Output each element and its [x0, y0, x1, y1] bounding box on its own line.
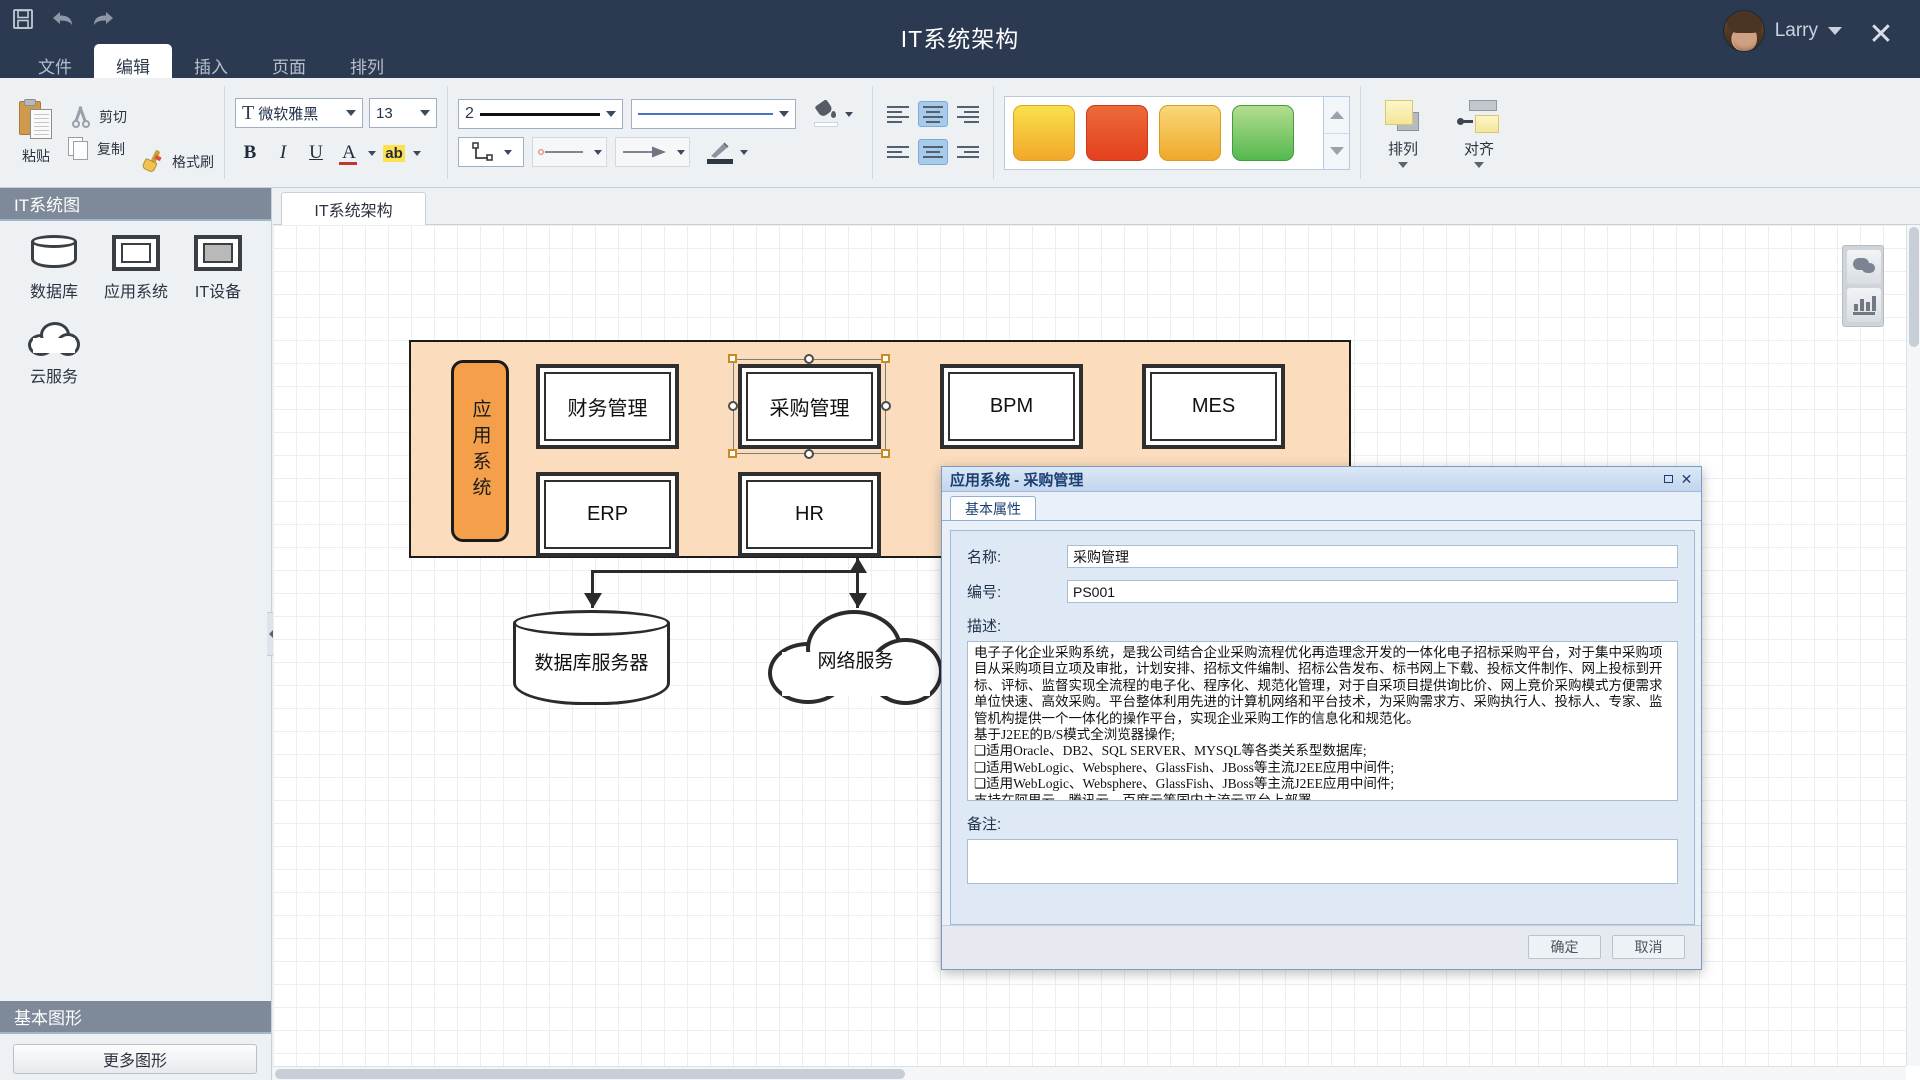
field-row-code: 编号: PS001 [967, 580, 1678, 603]
dialog-body: 名称: 采购管理 编号: PS001 描述: 电子子化企业采购系统，是我公司结合… [950, 530, 1695, 925]
user-menu[interactable]: Larry [1723, 10, 1842, 52]
scissors-icon [68, 106, 92, 128]
chevron-down-icon[interactable] [845, 112, 853, 117]
fill-color-swatch [814, 122, 838, 127]
dialog-tab-strip: 基本属性 [942, 492, 1701, 521]
chevron-down-icon[interactable] [368, 151, 376, 156]
cut-button[interactable]: 剪切 [68, 106, 127, 128]
canvas-horizontal-scrollbar[interactable] [273, 1066, 1906, 1080]
node-label: BPM [990, 395, 1033, 418]
chevron-down-icon[interactable] [346, 110, 356, 116]
format-painter-label: 格式刷 [172, 152, 214, 172]
left-panel: IT系统图 数据库 应用系统 IT设备 云服务 基本图形 更多图形 [0, 188, 272, 1080]
align-left-button[interactable] [883, 101, 913, 127]
stencil-label: 数据库 [30, 278, 78, 302]
ribbon-group-align [873, 78, 993, 188]
stencil-item-application[interactable]: 应用系统 [98, 235, 174, 302]
node-label: 采购管理 [770, 392, 850, 421]
close-icon: ✕ [1681, 472, 1693, 486]
stencil-label: 云服务 [30, 363, 78, 387]
style-swatch-yellow[interactable] [1013, 105, 1075, 161]
name-label: 名称: [967, 546, 1067, 567]
align-top-button[interactable] [883, 139, 913, 165]
ribbon: 粘贴 剪切 复制 格式刷 T 微软雅黑 [0, 78, 1920, 188]
ribbon-group-clipboard: 粘贴 剪切 复制 格式刷 [0, 78, 224, 188]
paint-bucket-icon [815, 101, 837, 121]
align-right-button[interactable] [953, 101, 983, 127]
canvas-vertical-scrollbar[interactable] [1906, 225, 1920, 1066]
node-label: 数据库服务器 [513, 648, 670, 675]
line-weight-value: 2 [465, 105, 474, 123]
line-weight-select[interactable]: 2 [458, 99, 623, 129]
dialog-title-bar[interactable]: 应用系统 - 采购管理 ✕ [942, 467, 1701, 492]
ribbon-group-arrange: 排列 对齐 [1361, 78, 1521, 188]
triangle-up-icon [1330, 111, 1344, 119]
arrange-icon [1381, 98, 1425, 136]
node-label: 财务管理 [568, 392, 648, 421]
database-shape-icon [31, 235, 77, 271]
scrollbar-thumb[interactable] [1909, 227, 1919, 347]
font-family-select[interactable]: T 微软雅黑 [235, 98, 363, 128]
scrollbar-thumb[interactable] [275, 1069, 905, 1079]
pen-icon [708, 141, 732, 159]
stencil-label: IT设备 [195, 278, 241, 302]
gallery-scroll-down-button[interactable] [1324, 134, 1349, 170]
more-shapes-button[interactable]: 更多图形 [13, 1044, 257, 1074]
connector-type-select[interactable] [458, 137, 524, 167]
basic-shapes-header: 基本图形 [0, 1001, 271, 1034]
copy-icon [68, 137, 90, 161]
elbow-connector-icon [471, 141, 497, 163]
resize-handle-sw[interactable] [728, 449, 737, 458]
node-label: MES [1192, 395, 1235, 418]
font-T-icon: T [242, 102, 254, 125]
chevron-down-icon[interactable] [677, 150, 685, 155]
style-swatch-orange[interactable] [1159, 105, 1221, 161]
chart-tool-button[interactable] [1847, 288, 1881, 322]
node-label: HR [795, 503, 824, 526]
diagram-node-mes[interactable]: MES [1142, 364, 1285, 449]
comment-tool-button[interactable] [1847, 250, 1881, 284]
stencil-label: 应用系统 [104, 278, 168, 302]
node-label: 网络服务 [768, 646, 943, 673]
resize-handle-n[interactable] [804, 354, 814, 364]
ribbon-group-line: 2 [448, 78, 872, 188]
stencil-item-device[interactable]: IT设备 [180, 235, 256, 302]
resize-handle-s[interactable] [804, 449, 814, 459]
style-swatch-green[interactable] [1232, 105, 1294, 161]
ok-button[interactable]: 确定 [1528, 935, 1601, 959]
document-tab-it-architecture[interactable]: IT系统架构 [281, 192, 426, 225]
arrowhead-up-container [849, 558, 867, 573]
db-cylinder-top [513, 610, 670, 636]
chevron-down-icon[interactable] [740, 150, 748, 155]
font-color-button[interactable]: A [334, 138, 364, 168]
line-start-style-select[interactable] [532, 137, 607, 167]
paste-button[interactable]: 粘贴 [8, 101, 64, 166]
dialog-tab-basic-properties[interactable]: 基本属性 [950, 496, 1036, 520]
bold-button[interactable]: B [235, 138, 265, 168]
application-shape-icon [112, 235, 160, 271]
gallery-scroll-up-button[interactable] [1324, 97, 1349, 134]
restore-icon [1664, 475, 1673, 483]
ribbon-group-styles [994, 78, 1360, 188]
description-label: 描述: [967, 615, 1678, 636]
resize-handle-e[interactable] [881, 401, 891, 411]
document-tab-strip: IT系统架构 [273, 188, 1920, 225]
chevron-down-icon[interactable] [779, 111, 789, 117]
chevron-down-icon[interactable] [420, 110, 430, 116]
diagram-node-bpm[interactable]: BPM [940, 364, 1083, 449]
canvas-side-tools [1842, 245, 1884, 327]
align-center-button[interactable] [918, 101, 948, 127]
cloud-shape-icon [28, 322, 80, 356]
note-label: 备注: [967, 813, 1678, 834]
align-middle-button[interactable] [918, 139, 948, 165]
format-painter-button[interactable]: 格式刷 [139, 150, 214, 174]
brush-icon [139, 150, 165, 174]
close-icon[interactable]: ✕ [1864, 18, 1898, 52]
pen-style-button[interactable] [698, 137, 756, 167]
code-value: PS001 [1073, 584, 1115, 600]
arrowhead-db [584, 593, 602, 608]
dialog-title: 应用系统 - 采购管理 [950, 469, 1083, 490]
chevron-down-icon[interactable] [1474, 162, 1484, 168]
paste-label: 粘贴 [22, 146, 50, 166]
field-row-name: 名称: 采购管理 [967, 545, 1678, 568]
chevron-down-icon[interactable] [504, 150, 512, 155]
chevron-down-icon[interactable] [413, 151, 421, 156]
line-end-style-select[interactable] [615, 137, 690, 167]
resize-handle-nw[interactable] [728, 354, 737, 363]
resize-handle-se[interactable] [881, 449, 890, 458]
dialog-restore-button[interactable] [1662, 473, 1675, 486]
name-value: 采购管理 [1073, 547, 1129, 567]
alignment-label: 对齐 [1464, 138, 1494, 159]
cancel-button[interactable]: 取消 [1612, 935, 1685, 959]
font-size-select[interactable]: 13 [369, 98, 437, 128]
name-field[interactable]: 采购管理 [1067, 545, 1678, 568]
align-bottom-button[interactable] [953, 139, 983, 165]
resize-handle-w[interactable] [728, 401, 738, 411]
font-size-value: 13 [376, 105, 393, 122]
chevron-down-icon[interactable] [606, 111, 616, 117]
chevron-down-icon[interactable] [1398, 162, 1408, 168]
alignment-icon [1457, 98, 1501, 136]
device-shape-icon [194, 235, 242, 271]
diagram-node-network-service[interactable]: 网络服务 [768, 610, 943, 705]
alignment-button[interactable]: 对齐 [1447, 98, 1511, 168]
line-color-preview [638, 113, 773, 115]
note-field[interactable] [967, 839, 1678, 884]
stencil-item-database[interactable]: 数据库 [16, 235, 92, 302]
user-name: Larry [1775, 20, 1818, 42]
triangle-down-icon [1330, 147, 1344, 155]
cut-label: 剪切 [99, 107, 127, 127]
connector-horizontal-to-db[interactable] [591, 570, 859, 573]
stencil-grid: 数据库 应用系统 IT设备 云服务 [0, 221, 271, 405]
dialog-close-button[interactable]: ✕ [1680, 473, 1693, 486]
dialog-footer: 确定 取消 [942, 925, 1701, 969]
font-family-value: 微软雅黑 [258, 103, 318, 124]
copy-label: 复制 [97, 139, 125, 159]
code-label: 编号: [967, 581, 1067, 602]
ribbon-group-font: T 微软雅黑 13 B I U A ab [225, 78, 447, 188]
chevron-down-icon[interactable] [1828, 27, 1842, 35]
line-preview [480, 113, 600, 116]
diagram-node-erp[interactable]: ERP [536, 472, 679, 557]
title-bar: IT系统架构 Larry ✕ 文件 编辑 插入 页面 排列 [0, 0, 1920, 78]
code-field[interactable]: PS001 [1067, 580, 1678, 603]
fill-color-button[interactable] [804, 99, 862, 129]
arrange-button[interactable]: 排列 [1371, 98, 1435, 168]
arrowhead-cloud [849, 593, 867, 608]
description-field[interactable]: 电子子化企业采购系统，是我公司结合企业采购流程优化再造理念开发的一体化电子招标采… [967, 641, 1678, 801]
comment-icon [1853, 258, 1875, 276]
chart-icon [1853, 296, 1875, 315]
shape-style-gallery[interactable] [1004, 96, 1324, 170]
line-start-icon [537, 145, 587, 159]
italic-button[interactable]: I [268, 138, 298, 168]
highlight-label: ab [383, 145, 405, 162]
resize-handle-ne[interactable] [881, 354, 890, 363]
avatar [1723, 10, 1765, 52]
style-gallery-scroller[interactable] [1324, 96, 1350, 170]
underline-button[interactable]: U [301, 138, 331, 168]
diagram-node-database-server[interactable]: 数据库服务器 [513, 610, 670, 705]
paste-icon [17, 101, 55, 143]
style-swatch-red[interactable] [1086, 105, 1148, 161]
stencil-section-header: IT系统图 [0, 188, 271, 221]
chevron-down-icon[interactable] [594, 150, 602, 155]
copy-button[interactable]: 复制 [68, 137, 127, 161]
highlight-button[interactable]: ab [379, 138, 409, 168]
line-color-select[interactable] [631, 99, 796, 129]
diagram-node-hr[interactable]: HR [738, 472, 881, 557]
group-label-application-systems[interactable]: 应用系统 [451, 360, 509, 542]
arrow-end-icon [620, 145, 670, 159]
stencil-item-cloud[interactable]: 云服务 [16, 322, 92, 387]
diagram-node-finance[interactable]: 财务管理 [536, 364, 679, 449]
properties-dialog[interactable]: 应用系统 - 采购管理 ✕ 基本属性 名称: 采购管理 编号: PS001 描述… [941, 466, 1702, 970]
arrange-label: 排列 [1388, 138, 1418, 159]
node-label: ERP [587, 503, 628, 526]
